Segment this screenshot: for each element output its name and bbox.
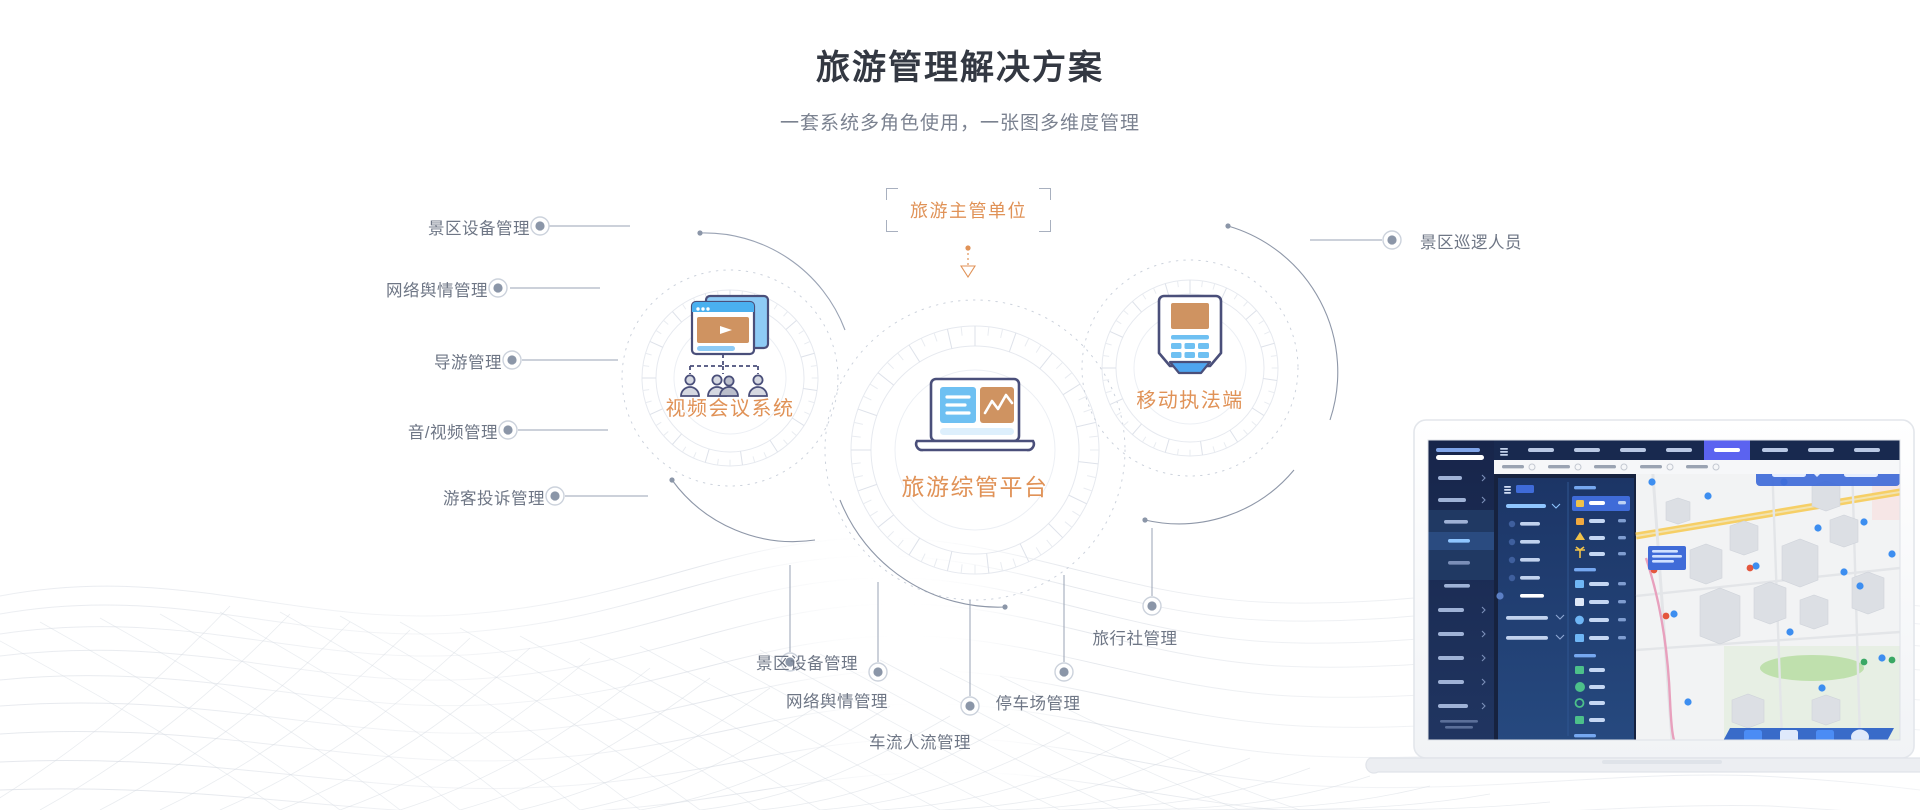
node-caption-mobile-enforcement: 移动执法端 xyxy=(1110,384,1270,413)
left-label-audio-video-management[interactable]: 音/视频管理 xyxy=(308,419,498,443)
right-label-scenic-patrol-staff[interactable]: 景区巡逻人员 xyxy=(1420,229,1620,253)
bottom-label-travel-agency-management[interactable]: 旅行社管理 xyxy=(1040,625,1230,649)
left-label-scenic-device-management[interactable]: 景区设备管理 xyxy=(340,215,530,239)
authority-label: 旅游主管单位 xyxy=(886,188,1051,232)
node-caption-tourism-platform: 旅游综管平台 xyxy=(880,468,1070,502)
right-connectors xyxy=(1310,231,1401,249)
laptop-dashboard-icon xyxy=(916,379,1034,450)
mobile-device-icon xyxy=(1159,296,1221,373)
bottom-label-traffic-flow-management[interactable]: 车流人流管理 xyxy=(825,729,1015,753)
left-connectors xyxy=(510,226,648,496)
node-caption-video-conference: 视频会议系统 xyxy=(645,392,815,421)
left-label-guide-management[interactable]: 导游管理 xyxy=(312,349,502,373)
left-label-tourist-complaint-management[interactable]: 游客投诉管理 xyxy=(355,485,545,509)
laptop-mockup xyxy=(1352,400,1920,775)
left-label-network-opinion-management[interactable]: 网络舆情管理 xyxy=(298,277,488,301)
bottom-label-scenic-device-management[interactable]: 景区设备管理 xyxy=(727,650,887,674)
authority-box[interactable]: 旅游主管单位 xyxy=(886,188,1051,232)
bottom-label-parking-management[interactable]: 停车场管理 xyxy=(943,690,1133,714)
authority-connector xyxy=(961,245,975,277)
bottom-label-network-opinion-management[interactable]: 网络舆情管理 xyxy=(742,688,932,712)
video-window-icon xyxy=(681,296,768,396)
tourism-solution-poster: 旅游管理解决方案 一套系统多角色使用，一张图多维度管理 xyxy=(0,0,1920,810)
